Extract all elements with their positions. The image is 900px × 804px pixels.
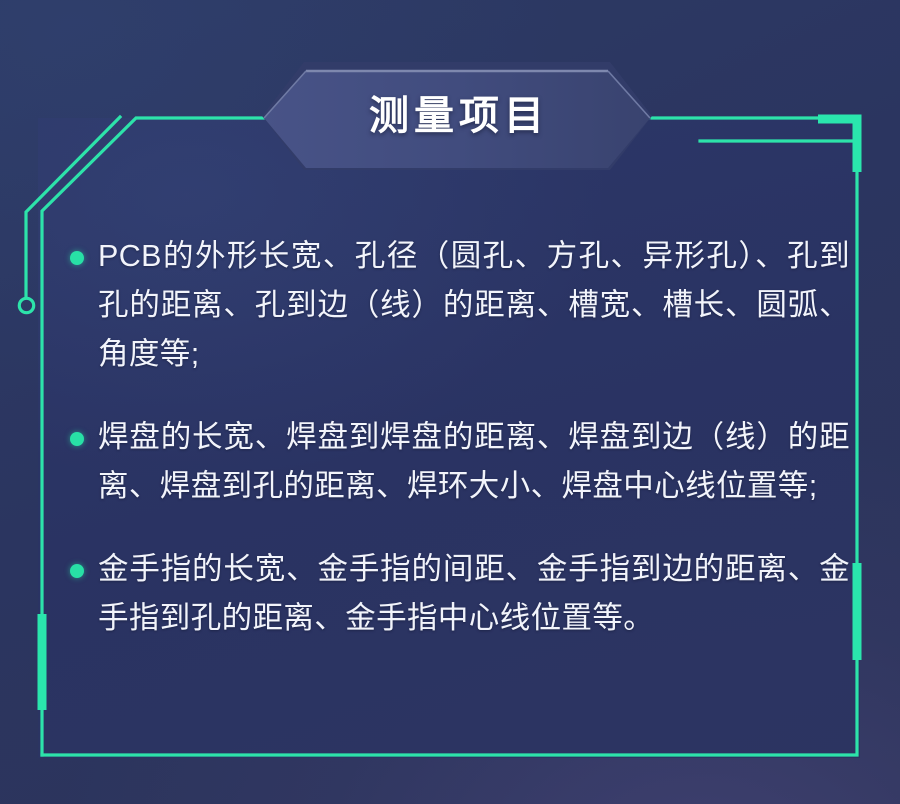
list-item-text: 金手指的长宽、金手指的间距、金手指到边的距离、金手指到孔的距离、金手指中心线位置… (98, 552, 850, 635)
list-item-text: 焊盘的长宽、焊盘到焊盘的距离、焊盘到边（线）的距离、焊盘到孔的距离、焊环大小、焊… (98, 420, 850, 503)
page-title: 测量项目 (262, 62, 652, 170)
list-item-text: PCB的外形长宽、孔径（圆孔、方孔、异形孔）、孔到孔的距离、孔到边（线）的距离、… (98, 239, 850, 371)
list-item: 金手指的长宽、金手指的间距、金手指到边的距离、金手指到孔的距离、金手指中心线位置… (60, 545, 850, 643)
bullet-dot-icon (70, 432, 84, 446)
bullet-dot-icon (70, 564, 84, 578)
list-item: 焊盘的长宽、焊盘到焊盘的距离、焊盘到边（线）的距离、焊盘到孔的距离、焊环大小、焊… (60, 413, 850, 511)
bullet-dot-icon (70, 251, 84, 265)
title-banner: 测量项目 (262, 62, 652, 170)
slide-canvas: 测量项目 PCB的外形长宽、孔径（圆孔、方孔、异形孔）、孔到孔的距离、孔到边（线… (0, 0, 900, 804)
list-item: PCB的外形长宽、孔径（圆孔、方孔、异形孔）、孔到孔的距离、孔到边（线）的距离、… (60, 232, 850, 379)
circuit-via-circle (19, 298, 33, 312)
measurement-items-list: PCB的外形长宽、孔径（圆孔、方孔、异形孔）、孔到孔的距离、孔到边（线）的距离、… (60, 232, 850, 643)
